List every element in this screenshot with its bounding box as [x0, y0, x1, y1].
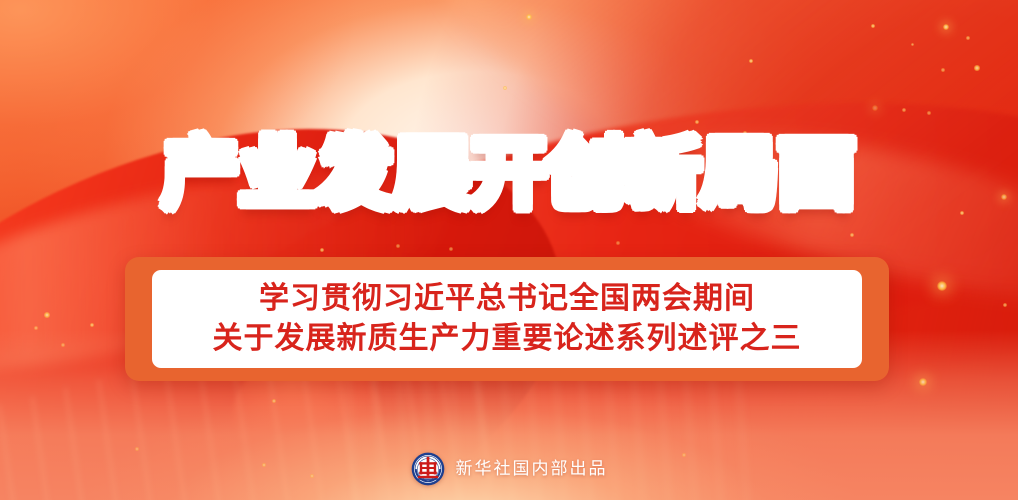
- footer-attribution-text: 新华社国内部出品: [456, 459, 608, 479]
- sparkle-particle: [919, 378, 927, 386]
- background-topleft-glow: [0, 0, 1018, 500]
- sparkle-particle: [320, 248, 325, 253]
- sparkle-particle: [1003, 303, 1007, 307]
- background-bottom-glow: [0, 0, 1018, 500]
- page-title: 产业发展开创新局面: [0, 133, 1018, 217]
- sparkle-particle: [871, 24, 875, 28]
- subtitle-card-frame: 学习贯彻习近平总书记全国两会期间 关于发展新质生产力重要论述系列述评之三: [125, 257, 889, 381]
- sparkle-particle: [44, 312, 50, 318]
- sparkle-particle: [90, 323, 94, 327]
- footer: 新华社国内部出品: [0, 452, 1018, 486]
- sparkle-particle: [941, 68, 944, 71]
- sparkle-particle: [396, 244, 399, 247]
- sparkle-particle: [526, 14, 532, 20]
- sparkle-particle: [272, 399, 276, 403]
- sparkle-particle: [872, 105, 879, 112]
- poster-canvas: 产业发展开创新局面 学习贯彻习近平总书记全国两会期间 关于发展新质生产力重要论述…: [0, 0, 1018, 500]
- sparkle-particle: [449, 247, 453, 251]
- sparkle-particle: [850, 233, 854, 237]
- sparkle-particle: [503, 86, 507, 90]
- sparkle-particle: [695, 120, 699, 124]
- sparkle-particle: [135, 447, 138, 450]
- subtitle-panel: 学习贯彻习近平总书记全国两会期间 关于发展新质生产力重要论述系列述评之三: [152, 270, 862, 368]
- background-base-gradient: [0, 0, 1018, 500]
- sparkle-particle: [937, 281, 947, 291]
- sparkle-particle: [749, 59, 754, 64]
- sparkle-particle: [974, 65, 979, 70]
- sparkle-particle: [911, 43, 914, 46]
- sparkle-particle: [61, 343, 64, 346]
- xinhua-news-agency-logo-icon: [411, 452, 445, 486]
- sparkle-particle: [616, 241, 619, 244]
- sparkle-particle: [902, 108, 906, 112]
- subtitle-line-1: 学习贯彻习近平总书记全国两会期间: [259, 279, 755, 319]
- sparkle-particle: [34, 326, 38, 330]
- background-right-red-glow: [0, 0, 1018, 500]
- sparkle-particle: [966, 36, 970, 40]
- sparkle-particle: [927, 111, 930, 114]
- sparkle-particle: [943, 24, 949, 30]
- subtitle-line-2: 关于发展新质生产力重要论述系列述评之三: [213, 319, 802, 359]
- page-title-text: 产业发展开创新局面: [163, 132, 856, 217]
- sparkle-particle-field: [0, 0, 1018, 500]
